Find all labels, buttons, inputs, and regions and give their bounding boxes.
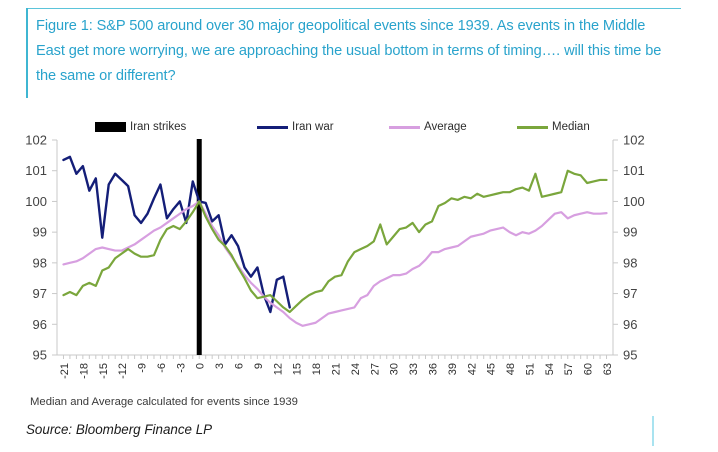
chart-footnote: Median and Average calculated for events… [30,396,298,408]
legend-swatch-icon [257,126,288,129]
x-tick-label: -12 [117,363,129,379]
x-axis-ticks: -21-18-15-12-9-6-30369121518212427303336… [59,355,614,379]
chart-axes [57,140,613,355]
x-tick-label: -18 [78,363,90,379]
x-tick-label: 54 [544,363,556,375]
y-axis-right-ticks: 9596979899100101102 [613,133,645,363]
y-tick-label-left: 101 [25,163,47,178]
legend-swatch-icon [389,126,420,129]
page-title: Figure 1: S&P 500 around over 30 major g… [36,14,666,89]
y-tick-label-right: 100 [623,194,645,209]
series-line-median [63,171,606,312]
chart-series-group [63,157,606,326]
y-tick-label-right: 97 [623,286,637,301]
x-tick-label: -15 [98,363,110,379]
y-axis-left-ticks: 9596979899100101102 [25,133,57,363]
x-tick-label: 6 [234,363,246,369]
x-tick-label: 39 [447,363,459,375]
x-tick-label: 42 [466,363,478,375]
x-tick-label: 9 [253,363,265,369]
y-tick-label-right: 98 [623,255,637,270]
y-tick-label-right: 99 [623,225,637,240]
x-tick-label: 48 [505,363,517,375]
x-tick-label: 60 [583,363,595,375]
x-tick-label: 3 [214,363,226,369]
x-tick-label: 33 [408,363,420,375]
x-tick-label: -21 [59,363,71,379]
x-tick-label: 21 [331,363,343,375]
x-tick-label: -9 [137,363,149,373]
bottom-right-accent-bar [652,416,654,446]
source-caption: Source: Bloomberg Finance LP [26,422,212,437]
x-tick-label: 30 [389,363,401,375]
x-tick-label: 63 [602,363,614,375]
x-tick-label: 0 [195,363,207,369]
x-tick-label: 57 [563,363,575,375]
y-tick-label-left: 97 [33,286,47,301]
series-line-average [63,201,606,325]
chart-container: 9596979899100101102 9596979899100101102 … [0,130,718,400]
x-tick-label: -3 [175,363,187,373]
y-tick-label-left: 96 [33,317,47,332]
x-tick-label: 24 [350,363,362,375]
y-tick-label-left: 95 [33,348,47,363]
x-tick-label: 27 [369,363,381,375]
y-tick-label-right: 101 [623,163,645,178]
y-tick-label-left: 100 [25,194,47,209]
y-tick-label-right: 102 [623,133,645,148]
title-top-rule [26,8,681,9]
title-left-accent-bar [26,8,28,98]
x-tick-label: -6 [156,363,168,373]
y-tick-label-left: 99 [33,225,47,240]
x-tick-label: 45 [486,363,498,375]
x-tick-label: 15 [292,363,304,375]
x-tick-label: 12 [272,363,284,375]
x-tick-label: 36 [427,363,439,375]
y-tick-label-left: 102 [25,133,47,148]
y-tick-label-left: 98 [33,255,47,270]
y-tick-label-right: 95 [623,348,637,363]
y-tick-label-right: 96 [623,317,637,332]
x-tick-label: 51 [524,363,536,375]
chart-svg: 9596979899100101102 9596979899100101102 … [0,130,718,400]
x-tick-label: 18 [311,363,323,375]
legend-swatch-icon [517,126,548,129]
